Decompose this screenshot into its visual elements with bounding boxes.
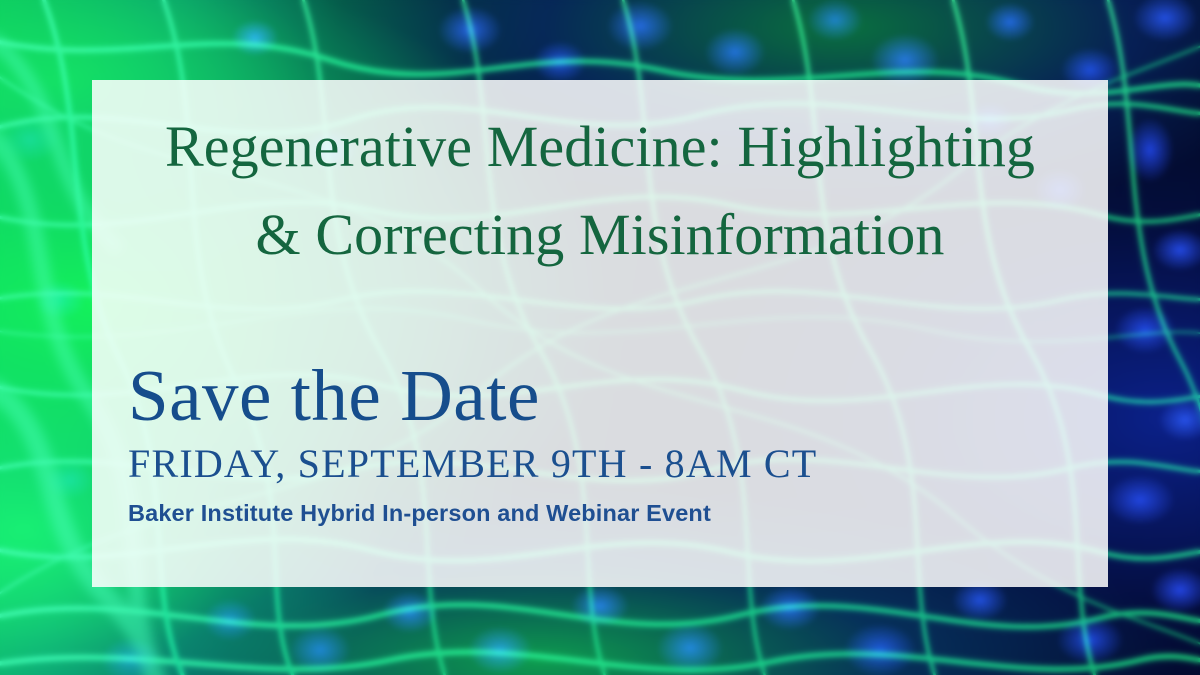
event-title-line-2: & Correcting Misinformation: [92, 191, 1108, 279]
event-title-line-1: Regenerative Medicine: Highlighting: [92, 103, 1108, 191]
event-title: Regenerative Medicine: Highlighting & Co…: [92, 103, 1108, 279]
content-panel: Regenerative Medicine: Highlighting & Co…: [92, 80, 1108, 587]
announcement-block: Save the Date FRIDAY, SEPTEMBER 9TH - 8A…: [128, 358, 817, 527]
save-the-date-heading: Save the Date: [128, 358, 817, 434]
event-format-description: Baker Institute Hybrid In-person and Web…: [128, 499, 817, 527]
event-date-time: FRIDAY, SEPTEMBER 9TH - 8AM CT: [128, 440, 817, 487]
save-the-date-poster: Regenerative Medicine: Highlighting & Co…: [0, 0, 1200, 675]
